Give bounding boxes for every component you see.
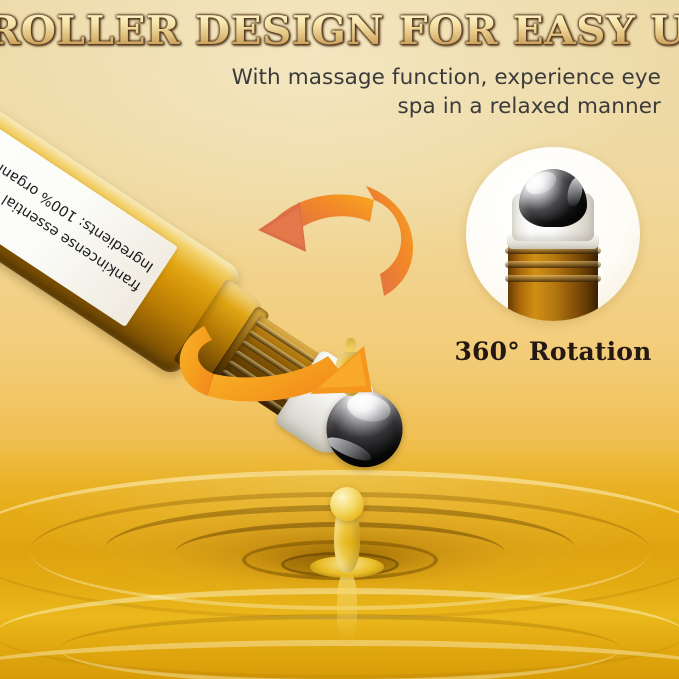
subtitle-line-2: spa in a relaxed manner bbox=[201, 92, 661, 121]
subtitle: With massage function, experience eye sp… bbox=[201, 63, 661, 121]
oil-splash-droplet bbox=[330, 487, 364, 521]
inset-bottle-neck bbox=[508, 243, 598, 321]
rotation-arrow-down-left-icon bbox=[258, 186, 413, 296]
inset-roller-ball bbox=[519, 169, 587, 227]
rotation-arrow-up-right-icon bbox=[180, 326, 372, 402]
splash-reflection bbox=[337, 572, 357, 644]
inset-ball-highlight bbox=[565, 176, 585, 208]
inset-ball-highlight bbox=[522, 169, 559, 199]
subtitle-line-1: With massage function, experience eye bbox=[201, 63, 661, 92]
rotation-closeup-inset bbox=[466, 147, 640, 321]
rotation-caption: 360° Rotation bbox=[446, 337, 660, 366]
rotation-arrows-svg bbox=[160, 178, 440, 408]
page-title: ROLLER DESIGN FOR EASY USE bbox=[0, 10, 679, 52]
rotation-arrows bbox=[160, 178, 440, 408]
product-graphic-stage: ROLLER DESIGN FOR EASY USE With massage … bbox=[0, 0, 679, 679]
